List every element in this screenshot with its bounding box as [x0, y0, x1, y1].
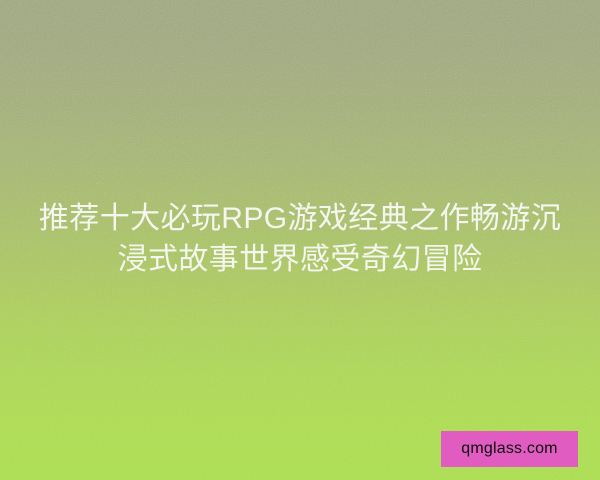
banner-title: 推荐十大必玩RPG游戏经典之作畅游沉 浸式故事世界感受奇幻冒险 [0, 198, 600, 280]
promo-banner: 推荐十大必玩RPG游戏经典之作畅游沉 浸式故事世界感受奇幻冒险 qmglass.… [0, 0, 600, 480]
watermark-label: qmglass.com [461, 441, 557, 457]
watermark-badge[interactable]: qmglass.com [441, 431, 578, 467]
banner-title-line-2: 浸式故事世界感受奇幻冒险 [20, 239, 580, 280]
banner-title-line-1: 推荐十大必玩RPG游戏经典之作畅游沉 [20, 198, 580, 239]
